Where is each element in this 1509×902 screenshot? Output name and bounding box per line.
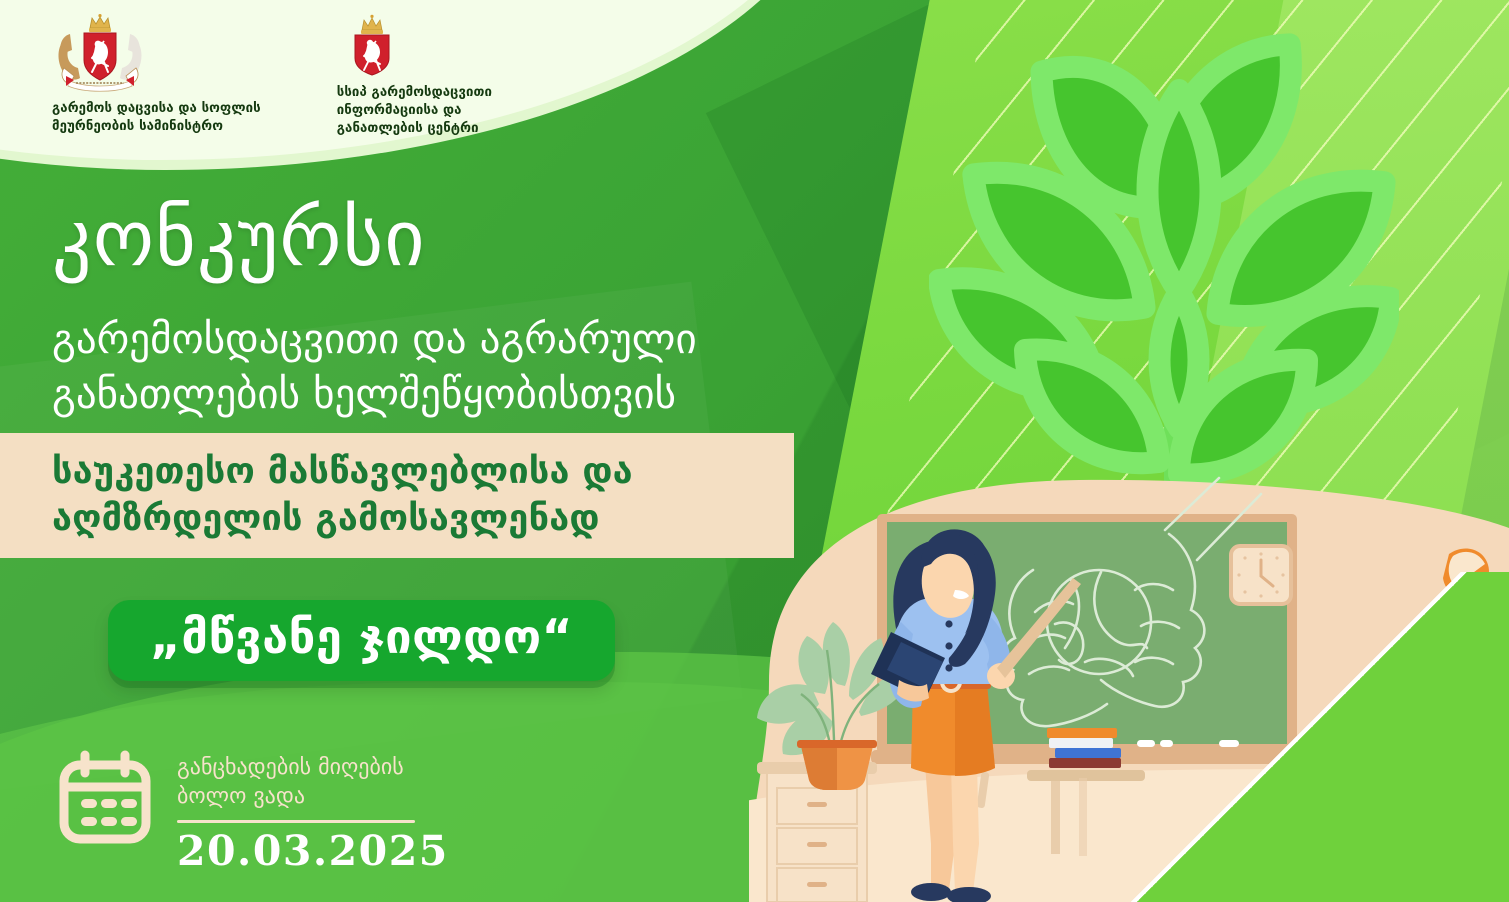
page-title: კონკურსი bbox=[52, 200, 426, 278]
highlight-banner-text: საუკეთესო მასწავლებლისა და აღმზრდელის გა… bbox=[0, 449, 633, 541]
deadline-divider bbox=[177, 820, 415, 823]
teacher-leg-front bbox=[951, 764, 979, 892]
deadline-block: განცხადების მიღების ბოლო ვადა 20.03.2025 bbox=[55, 748, 449, 875]
logo-row: გარემოს დაცვისა და სოფლის მეურნეობის სამ… bbox=[52, 14, 492, 139]
award-name-label: „მწვანე ჯილდო“ bbox=[150, 613, 573, 662]
georgia-shield-emblem-icon bbox=[343, 14, 401, 76]
deadline-date: 20.03.2025 bbox=[177, 827, 449, 875]
deadline-text-block: განცხადების მიღების ბოლო ვადა 20.03.2025 bbox=[177, 748, 449, 875]
award-name-badge: „მწვანე ჯილდო“ bbox=[108, 600, 615, 681]
highlight-banner: საუკეთესო მასწავლებლისა და აღმზრდელის გა… bbox=[0, 433, 794, 558]
teacher-shoe-back bbox=[911, 883, 951, 901]
deadline-label: განცხადების მიღების ბოლო ვადა bbox=[177, 754, 449, 811]
logo-ministry: გარემოს დაცვისა და სოფლის მეურნეობის სამ… bbox=[52, 14, 261, 139]
poster-canvas: გარემოს დაცვისა და სოფლის მეურნეობის სამ… bbox=[0, 0, 1509, 902]
georgia-coat-of-arms-icon bbox=[52, 14, 148, 92]
logo-center: სსიპ გარემოსდაცვითი ინფორმაციისა და განა… bbox=[337, 14, 492, 139]
calendar-icon bbox=[55, 748, 155, 848]
bottom-right-green-wedge bbox=[1089, 572, 1509, 902]
page-subtitle: გარემოსდაცვითი და აგრარული განათლების ხე… bbox=[52, 312, 697, 422]
logo-center-caption: სსიპ გარემოსდაცვითი ინფორმაციისა და განა… bbox=[337, 84, 492, 139]
logo-ministry-caption: გარემოს დაცვისა და სოფლის მეურნეობის სამ… bbox=[52, 100, 261, 136]
